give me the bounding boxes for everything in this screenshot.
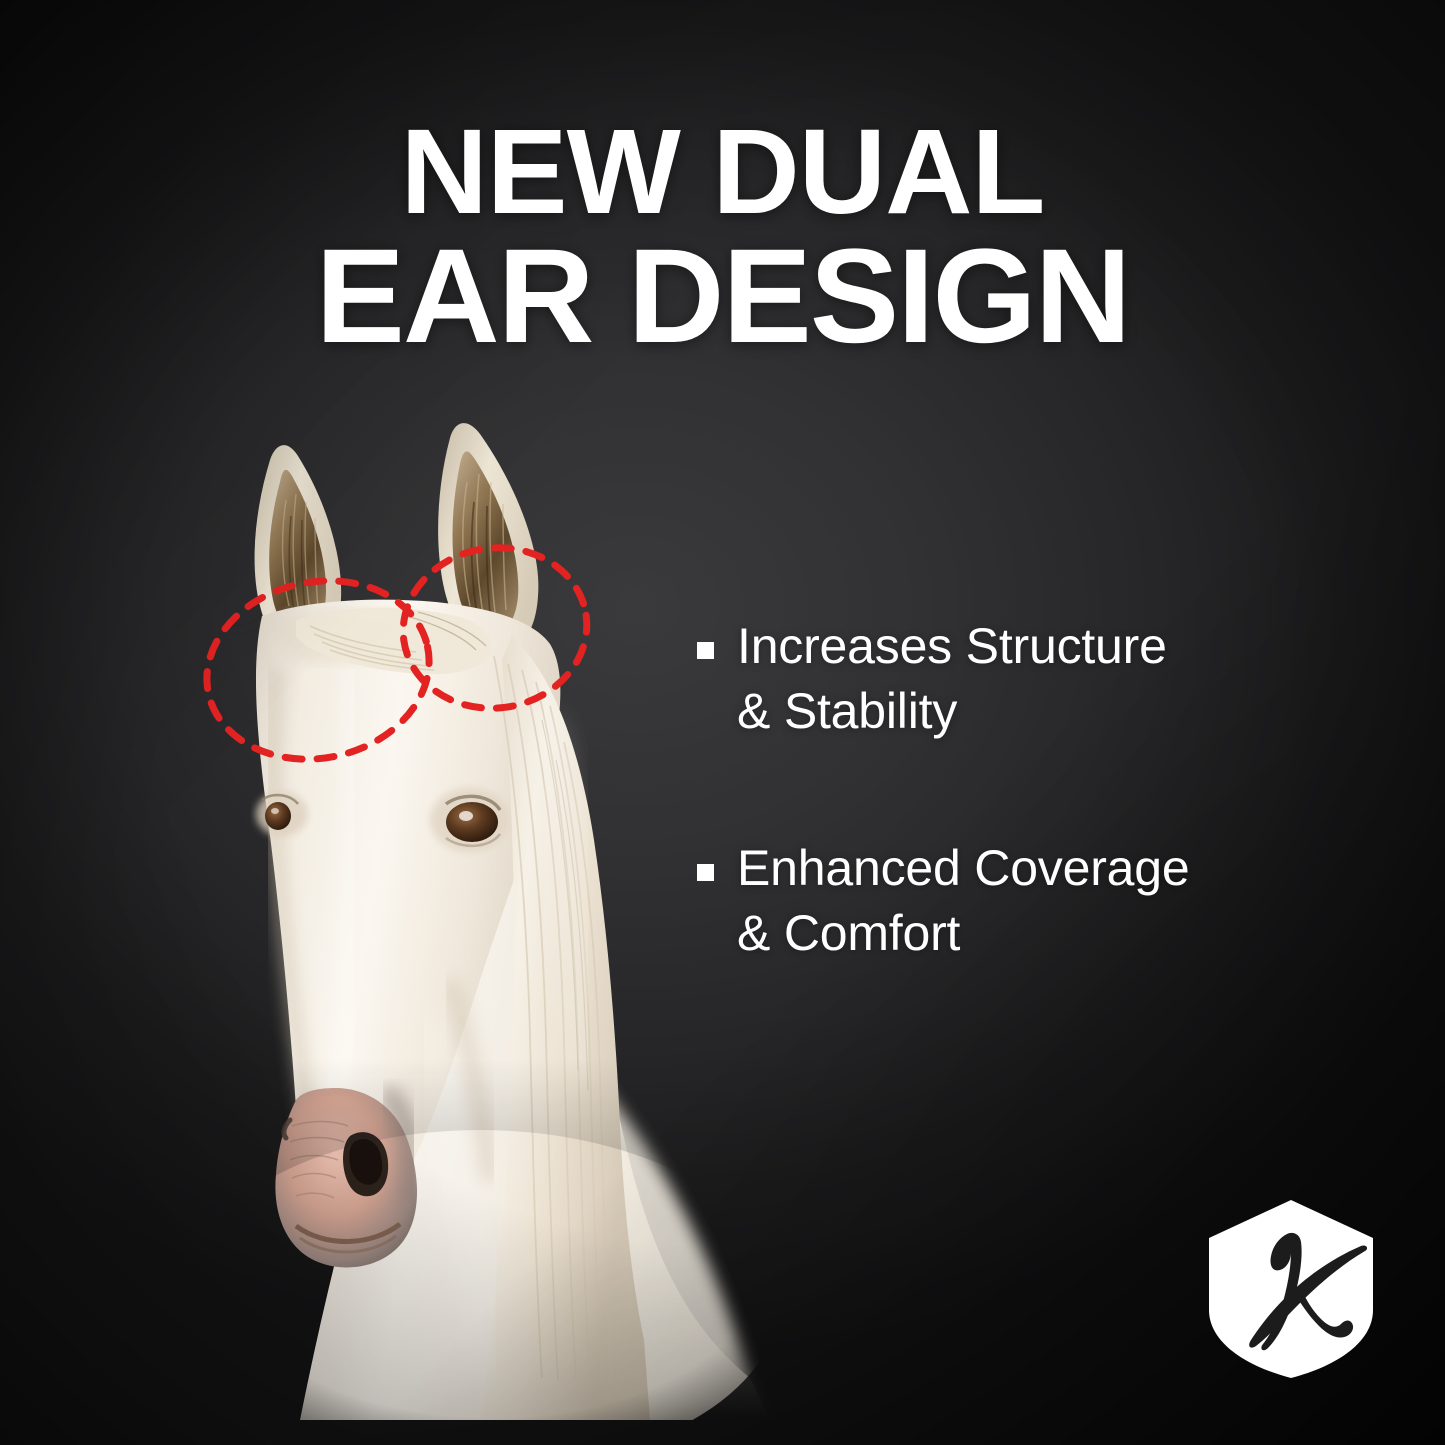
bullet-2-line-1: Enhanced Coverage <box>737 840 1189 896</box>
bullet-1-line-1: Increases Structure <box>737 618 1167 674</box>
right-eye <box>430 788 510 852</box>
shield-k-icon <box>1203 1198 1379 1380</box>
horse-subject <box>150 420 770 1420</box>
bullet-1-line-2: & Stability <box>737 683 957 739</box>
page-title: NEW DUAL EAR DESIGN <box>0 112 1445 362</box>
poster-canvas: NEW DUAL EAR DESIGN Increases Structure … <box>0 0 1445 1445</box>
headline-line-1: NEW DUAL <box>120 112 1325 231</box>
muzzle <box>275 1088 417 1267</box>
bullet-2-line-2: & Comfort <box>737 905 960 961</box>
bullet-text: Enhanced Coverage & Comfort <box>737 836 1189 966</box>
list-item: Enhanced Coverage & Comfort <box>697 836 1357 966</box>
square-bullet-icon <box>697 864 714 881</box>
left-eye <box>256 792 308 836</box>
headline-line-2: EAR DESIGN <box>120 231 1325 362</box>
brand-logo <box>1203 1198 1379 1380</box>
list-item: Increases Structure & Stability <box>697 614 1357 744</box>
feature-bullet-list: Increases Structure & Stability Enhanced… <box>697 614 1357 966</box>
horse-illustration <box>150 420 770 1420</box>
square-bullet-icon <box>697 642 714 659</box>
bullet-text: Increases Structure & Stability <box>737 614 1167 744</box>
